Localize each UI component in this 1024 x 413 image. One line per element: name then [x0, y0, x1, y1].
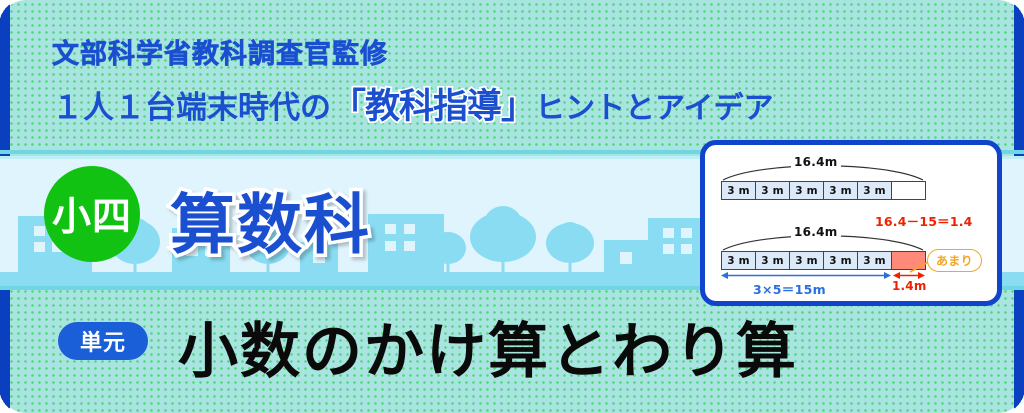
- title-boxed: 「教科指導」: [331, 87, 535, 127]
- multiplication-equation: 3×5＝15m: [753, 279, 826, 298]
- supervisor-line: 文部科学省教科調査官監修: [52, 32, 388, 71]
- top-total-label: 16.4m: [791, 155, 841, 169]
- subtraction-equation: 16.4－15＝1.4: [875, 211, 973, 230]
- bottom-bar: 3 m 3 m 3 m 3 m 3 m: [721, 251, 926, 270]
- bar-cell: 3 m: [722, 252, 756, 269]
- grade-badge: 小四: [44, 166, 140, 262]
- bar-cell-empty: [892, 182, 925, 199]
- title-suffix: ヒントとアイデア: [535, 91, 774, 126]
- subject-title: 算数科: [170, 172, 371, 266]
- top-bar: 3 m 3 m 3 m 3 m 3 m: [721, 181, 926, 200]
- grade-label: 小四: [52, 186, 132, 242]
- corner-mask-br: [995, 384, 1024, 413]
- diagram-panel: 16.4m 3 m 3 m 3 m 3 m 3 m 16.4－15＝1.4 16…: [700, 140, 1002, 306]
- bar-cell: 3 m: [790, 252, 824, 269]
- bar-cell: 3 m: [756, 182, 790, 199]
- tree-icon: [546, 216, 594, 272]
- remainder-callout: あまり: [927, 249, 982, 272]
- tree-icon: [430, 228, 466, 272]
- bar-cell: 3 m: [790, 182, 824, 199]
- unit-title: 小数のかけ算とわり算: [178, 303, 798, 390]
- header-block: 文部科学省教科調査官監修 １人１台端末時代の「教科指導」ヒントとアイデア: [0, 18, 700, 128]
- bar-cell: 3 m: [756, 252, 790, 269]
- bottom-total-label: 16.4m: [791, 225, 841, 239]
- tree-icon: [470, 198, 536, 272]
- corner-mask-tr: [995, 0, 1024, 29]
- bar-cell: 3 m: [824, 252, 858, 269]
- corner-mask-bl: [0, 384, 29, 413]
- unit-badge: 単元: [58, 322, 148, 360]
- unit-badge-label: 単元: [80, 325, 126, 357]
- remainder-length-label: 1.4m: [892, 279, 927, 293]
- bar-cell: 3 m: [824, 182, 858, 199]
- bar-cell: 3 m: [858, 182, 892, 199]
- banner-root: 文部科学省教科調査官監修 １人１台端末時代の「教科指導」ヒントとアイデア 小四 …: [0, 0, 1024, 413]
- bar-cell: 3 m: [722, 182, 756, 199]
- title-prefix: １人１台端末時代の: [52, 90, 331, 126]
- main-title-line: １人１台端末時代の「教科指導」ヒントとアイデア: [52, 78, 774, 129]
- bar-cell: 3 m: [858, 252, 892, 269]
